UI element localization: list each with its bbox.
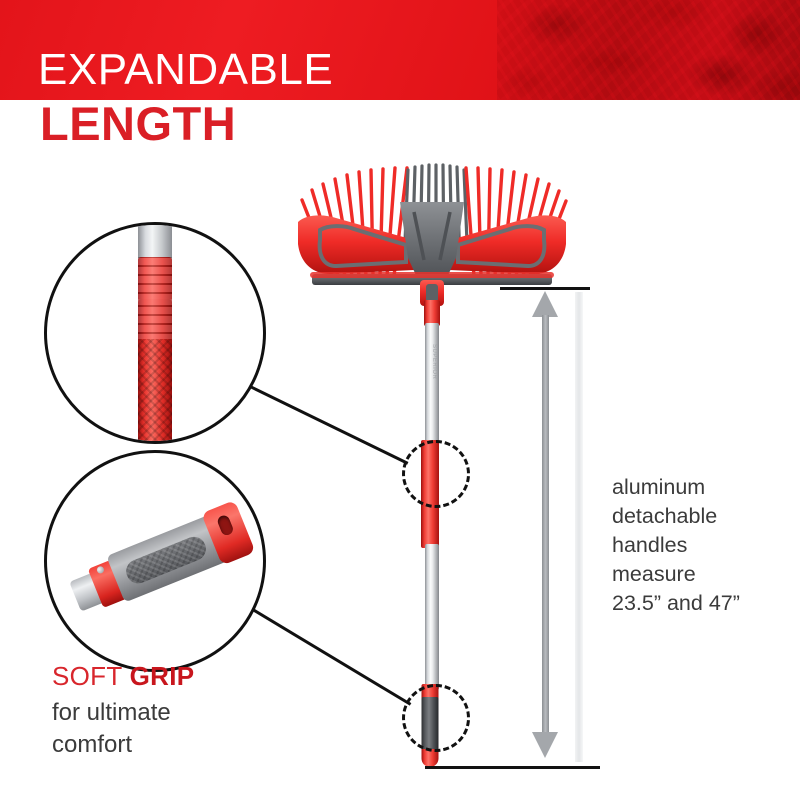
measure-caption-line-5: 23.5” and 47” (612, 589, 797, 618)
infographic-page: EXPANDABLE LENGTH (0, 0, 800, 800)
measure-guide-bar (575, 292, 583, 762)
callout-collar-ribs-upper (138, 257, 172, 303)
shaft-logo: SUPERIOR (431, 344, 437, 379)
rake-cross-bar-red (310, 272, 554, 278)
handle-assembly (63, 500, 255, 629)
rake-center-plate (400, 202, 464, 284)
soft-grip-headline: SOFT GRIP (52, 661, 194, 692)
leader-line-top (245, 383, 408, 465)
callout-collar-ribs-lower (138, 299, 172, 343)
callout-soft-grip-handle (44, 450, 266, 672)
rake-head-body (296, 200, 568, 310)
measure-arrow-head-top (532, 291, 558, 317)
callout-ferrule (138, 223, 172, 261)
measure-caption-line-1: aluminum (612, 473, 797, 502)
shaft-mid-tube (425, 544, 439, 690)
soft-grip-headline-bold: GRIP (130, 661, 195, 691)
shaft-upper-tube (425, 323, 439, 449)
leader-line-bottom (245, 604, 411, 705)
page-title-line1: EXPANDABLE (38, 48, 333, 92)
measure-caption-line-2: detachable (612, 502, 797, 531)
soft-grip-subtext-line-1: for ultimate (52, 697, 262, 729)
soft-grip-subtext: for ultimate comfort (52, 697, 262, 761)
target-ring-upper-joint (402, 440, 470, 508)
measure-arrow-head-bottom (532, 732, 558, 758)
soft-grip-headline-light: SOFT (52, 661, 122, 691)
callout-textured-grip (138, 339, 172, 444)
measure-caption-line-4: measure (612, 560, 797, 589)
measure-caption-line-3: handles (612, 531, 797, 560)
callout-telescoping-collar (44, 222, 266, 444)
callout-collar-lower (138, 299, 172, 343)
soft-grip-subtext-line-2: comfort (52, 729, 262, 761)
target-ring-lower-grip (402, 684, 470, 752)
measure-arrow-shaft (542, 315, 549, 733)
page-title-line2: LENGTH (40, 100, 236, 147)
callout-collar-upper (138, 257, 172, 303)
measurement-caption: aluminum detachable handles measure 23.5… (612, 473, 797, 618)
reference-line-bottom (425, 766, 600, 769)
banner-leaf-texture (497, 0, 800, 100)
reference-line-top (500, 287, 590, 290)
